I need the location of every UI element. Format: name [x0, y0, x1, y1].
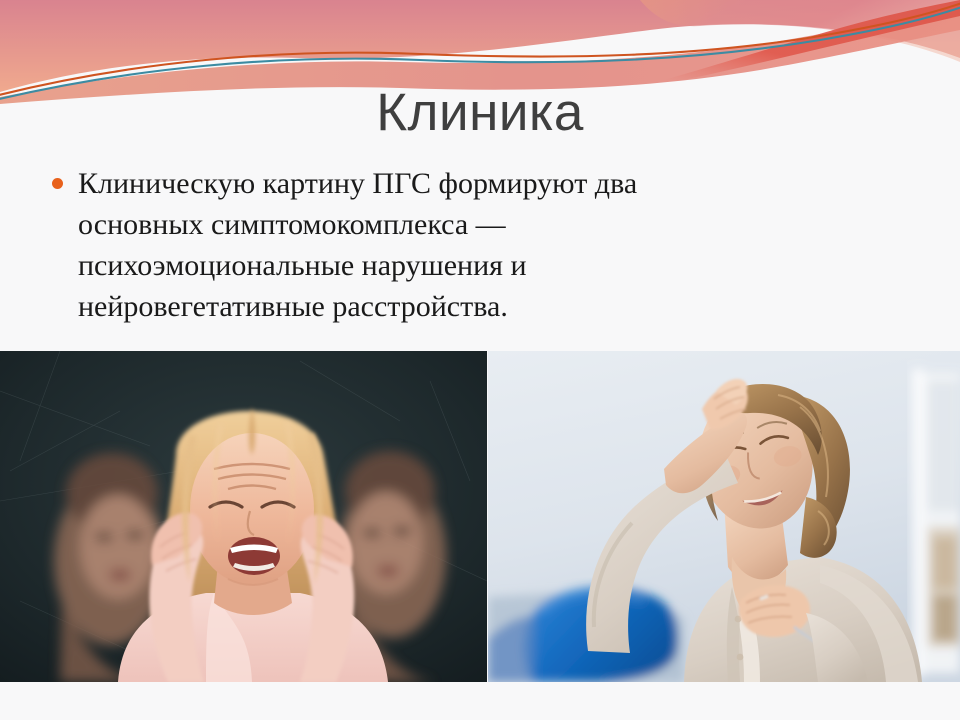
woman-with-headache-photo [488, 351, 960, 682]
bullet-item: Клиническую картину ПГС формируют два ос… [52, 163, 852, 327]
bullet-dot-icon [52, 178, 63, 189]
bullet-text: Клиническую картину ПГС формируют два ос… [78, 163, 738, 327]
screaming-woman-photo [0, 351, 487, 682]
slide-body-content: Клиническую картину ПГС формируют два ос… [52, 163, 852, 327]
presentation-slide: Клиника Клиническую картину ПГС формирую… [0, 0, 960, 720]
slide-title: Клиника [0, 84, 960, 141]
photo-strip [0, 351, 960, 682]
